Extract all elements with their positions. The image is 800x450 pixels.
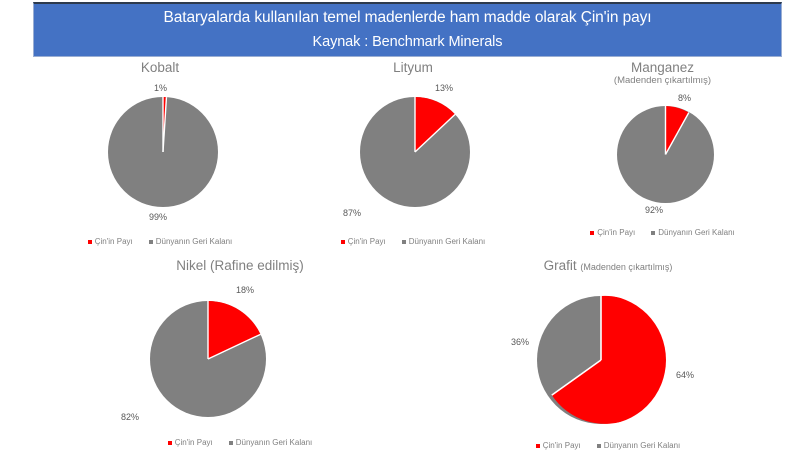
legend-swatch-china-icon	[88, 240, 92, 244]
legend-item-rest: Dünyanın Geri Kalanı	[597, 441, 681, 450]
pie-chart-kobalt	[107, 96, 219, 208]
legend-label-china: Çin'in Payı	[597, 228, 635, 237]
legend-label-rest: Dünyanın Geri Kalanı	[658, 228, 735, 237]
legend-label-rest: Dünyanın Geri Kalanı	[604, 441, 681, 450]
legend-item-rest: Dünyanın Geri Kalanı	[229, 438, 313, 447]
legend-swatch-china-icon	[168, 441, 172, 445]
pie-label-china: 18%	[236, 285, 254, 295]
legend-grafit: Çin'in Payı Dünyanın Geri Kalanı	[458, 441, 758, 450]
legend-item-china: Çin'in Payı	[536, 441, 581, 450]
pie-label-rest: 92%	[645, 205, 663, 215]
legend-item-rest: Dünyanın Geri Kalanı	[651, 228, 735, 237]
legend-item-rest: Dünyanın Geri Kalanı	[402, 237, 486, 246]
legend-label-rest: Dünyanın Geri Kalanı	[236, 438, 313, 447]
chart-manganez: Manganez (Madenden çıkartılmış) 8% 92% Ç…	[545, 60, 780, 237]
chart-title-text: Kobalt	[141, 60, 179, 75]
pie-area-lityum: 13% 87%	[288, 83, 538, 213]
legend-swatch-china-icon	[590, 231, 594, 235]
legend-swatch-china-icon	[536, 444, 540, 448]
legend-label-rest: Dünyanın Geri Kalanı	[409, 237, 486, 246]
pie-label-rest: 82%	[121, 412, 139, 422]
legend-lityum: Çin'in Payı Dünyanın Geri Kalanı	[288, 237, 538, 246]
pie-label-rest: 87%	[343, 208, 361, 218]
legend-item-china: Çin'in Payı	[88, 237, 133, 246]
chart-subtitle-text: (Madenden çıkartılmış)	[545, 75, 780, 87]
chart-lityum: Lityum 13% 87% Çin'in Payı Dünyanın Geri…	[288, 60, 538, 246]
header-banner: Bataryalarda kullanılan temel madenlerde…	[33, 2, 782, 57]
banner-title: Bataryalarda kullanılan temel madenlerde…	[163, 9, 651, 27]
pie-label-china: 8%	[678, 93, 691, 103]
banner-source: Kaynak : Benchmark Minerals	[313, 33, 503, 51]
chart-title-kobalt: Kobalt	[35, 60, 285, 75]
chart-title-nikel: Nikel (Rafine edilmiş)	[100, 258, 380, 273]
legend-swatch-rest-icon	[149, 240, 153, 244]
legend-nikel: Çin'in Payı Dünyanın Geri Kalanı	[100, 438, 380, 447]
legend-swatch-rest-icon	[651, 231, 655, 235]
legend-label-china: Çin'in Payı	[543, 441, 581, 450]
chart-nikel: Nikel (Rafine edilmiş) 18% 82% Çin'in Pa…	[100, 258, 380, 447]
pie-chart-grafit	[536, 295, 666, 425]
pie-area-grafit: 36% 64%	[458, 287, 758, 427]
legend-item-rest: Dünyanın Geri Kalanı	[149, 237, 233, 246]
chart-title-manganez: Manganez (Madenden çıkartılmış)	[545, 60, 780, 87]
pie-label-china: 13%	[435, 83, 453, 93]
legend-kobalt: Çin'in Payı Dünyanın Geri Kalanı	[35, 237, 285, 246]
legend-label-china: Çin'in Payı	[348, 237, 386, 246]
chart-title-lityum: Lityum	[288, 60, 538, 75]
pie-chart-manganez	[616, 105, 715, 204]
chart-title-text: Manganez	[631, 60, 694, 75]
pie-area-nikel: 18% 82%	[100, 285, 380, 420]
pie-chart-lityum	[359, 96, 471, 208]
chart-grafit: Grafit (Madenden çıkartılmış) 36% 64% Çi…	[458, 258, 758, 450]
pie-area-manganez: 8% 92%	[545, 93, 780, 208]
chart-kobalt: Kobalt 1% 99% Çin'in Payı Dünyanın Geri …	[35, 60, 285, 246]
pie-label-rest: 36%	[511, 337, 529, 347]
legend-swatch-rest-icon	[229, 441, 233, 445]
chart-title-grafit: Grafit (Madenden çıkartılmış)	[458, 258, 758, 275]
pie-chart-nikel	[149, 300, 267, 418]
chart-title-text: Lityum	[393, 60, 433, 75]
legend-label-china: Çin'in Payı	[175, 438, 213, 447]
legend-item-china: Çin'in Payı	[168, 438, 213, 447]
chart-subtitle-text: (Madenden çıkartılmış)	[580, 262, 672, 272]
legend-item-china: Çin'in Payı	[341, 237, 386, 246]
chart-title-text: Nikel (Rafine edilmiş)	[176, 258, 304, 273]
legend-item-china: Çin'in Payı	[590, 228, 635, 237]
pie-label-china: 1%	[154, 83, 167, 93]
chart-title-text: Grafit	[544, 258, 577, 273]
pie-label-rest: 99%	[149, 212, 167, 222]
pie-label-china: 64%	[676, 370, 694, 380]
legend-label-china: Çin'in Payı	[95, 237, 133, 246]
legend-label-rest: Dünyanın Geri Kalanı	[156, 237, 233, 246]
legend-swatch-china-icon	[341, 240, 345, 244]
legend-swatch-rest-icon	[597, 444, 601, 448]
legend-manganez: Çin'in Payı Dünyanın Geri Kalanı	[545, 228, 780, 237]
legend-swatch-rest-icon	[402, 240, 406, 244]
pie-area-kobalt: 1% 99%	[35, 83, 285, 213]
